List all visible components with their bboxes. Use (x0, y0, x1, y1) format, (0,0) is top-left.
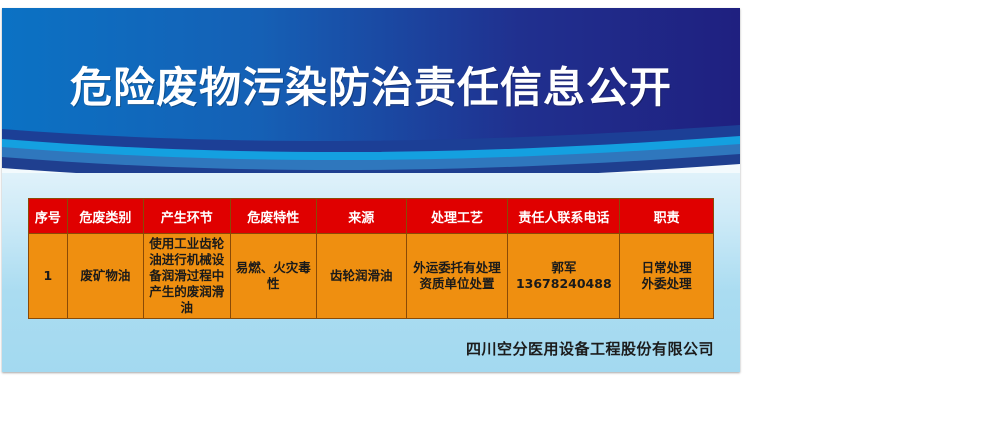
column-header-category: 危废类别 (67, 199, 143, 234)
cell-characteristics: 易燃、火灾毒性 (230, 234, 317, 319)
company-name: 四川空分医用设备工程股份有限公司 (2, 338, 714, 359)
cell-contact: 郭军 13678240488 (508, 234, 620, 319)
cell-duty: 日常处理 外委处理 (620, 234, 714, 319)
table-header-row: 序号 危废类别 产生环节 危废特性 来源 处理工艺 责任人联系电话 职责 (29, 199, 714, 234)
column-header-duty: 职责 (620, 199, 714, 234)
column-header-contact: 责任人联系电话 (508, 199, 620, 234)
cell-category: 废矿物油 (67, 234, 143, 319)
column-header-index: 序号 (29, 199, 68, 234)
contact-person-phone: 13678240488 (511, 276, 616, 292)
column-header-characteristics: 危废特性 (230, 199, 317, 234)
column-header-treatment: 处理工艺 (406, 199, 508, 234)
duty-line-daily: 日常处理 (623, 260, 710, 276)
poster-banner: 危险废物污染防治责任信息公开 (2, 8, 740, 173)
table-row: 1 废矿物油 使用工业齿轮油进行机械设备润滑过程中产生的废润滑油 易燃、火灾毒性… (29, 234, 714, 319)
cell-index: 1 (29, 234, 68, 319)
contact-person-name: 郭军 (511, 260, 616, 276)
hazardous-waste-table: 序号 危废类别 产生环节 危废特性 来源 处理工艺 责任人联系电话 职责 1 废… (28, 198, 714, 319)
cell-generation-stage: 使用工业齿轮油进行机械设备润滑过程中产生的废润滑油 (144, 234, 231, 319)
page-title: 危险废物污染防治责任信息公开 (2, 54, 740, 115)
duty-line-outsource: 外委处理 (623, 276, 710, 292)
cell-treatment: 外运委托有处理资质单位处置 (406, 234, 508, 319)
information-disclosure-poster: 危险废物污染防治责任信息公开 序号 危废类别 产生环节 危废特性 来源 处理工艺… (2, 8, 740, 372)
cell-source: 齿轮润滑油 (317, 234, 407, 319)
column-header-source: 来源 (317, 199, 407, 234)
column-header-stage: 产生环节 (144, 199, 231, 234)
